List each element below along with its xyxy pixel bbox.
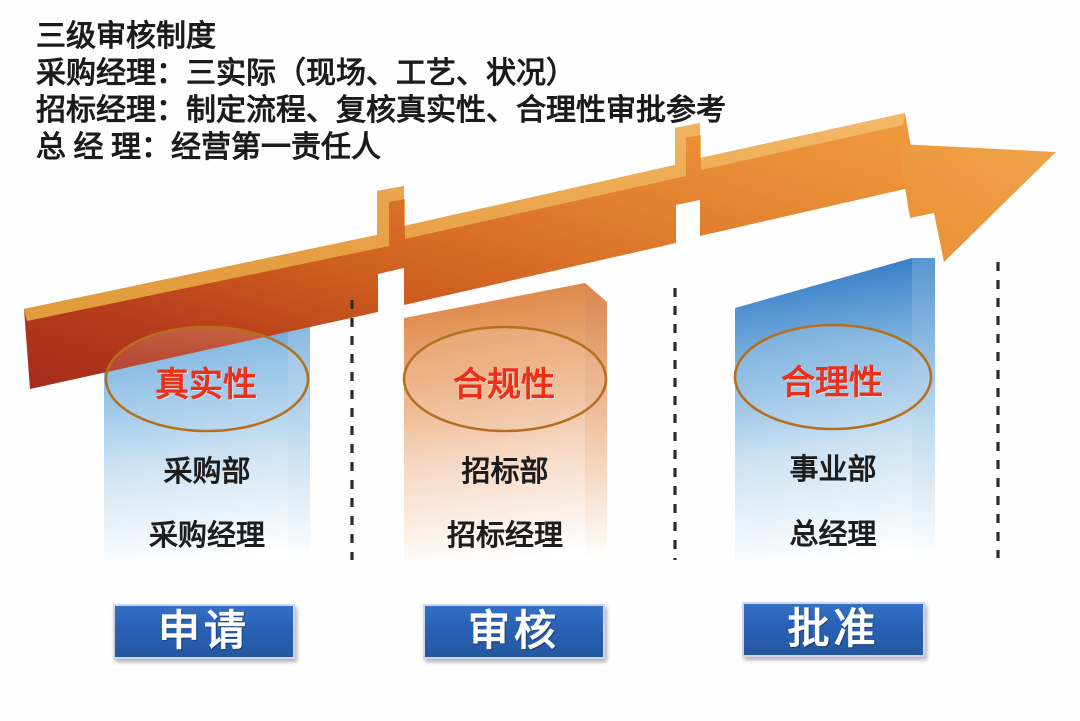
department-label-2: 招标部 bbox=[405, 448, 605, 490]
slide-canvas: 三级审核制度 采购经理：三实际（现场、工艺、状况） 招标经理：制定流程、复核真实… bbox=[0, 0, 1080, 721]
action-button-review[interactable]: 审核 bbox=[423, 604, 605, 659]
action-button-review-label: 审核 bbox=[468, 611, 560, 653]
principle-label-3: 合理性 bbox=[781, 355, 883, 404]
role-label-3: 总经理 bbox=[733, 511, 933, 553]
role-label-1: 采购经理 bbox=[107, 512, 307, 554]
action-button-approve[interactable]: 批准 bbox=[742, 602, 925, 657]
action-button-apply[interactable]: 申请 bbox=[113, 604, 295, 659]
principle-label-2: 合规性 bbox=[453, 357, 555, 406]
action-button-approve-label: 批准 bbox=[787, 609, 879, 651]
department-label-3: 事业部 bbox=[733, 446, 933, 488]
principle-label-1: 真实性 bbox=[155, 357, 257, 406]
role-label-2: 招标经理 bbox=[405, 512, 605, 554]
department-label-1: 采购部 bbox=[107, 448, 307, 490]
action-button-apply-label: 申请 bbox=[158, 611, 250, 653]
